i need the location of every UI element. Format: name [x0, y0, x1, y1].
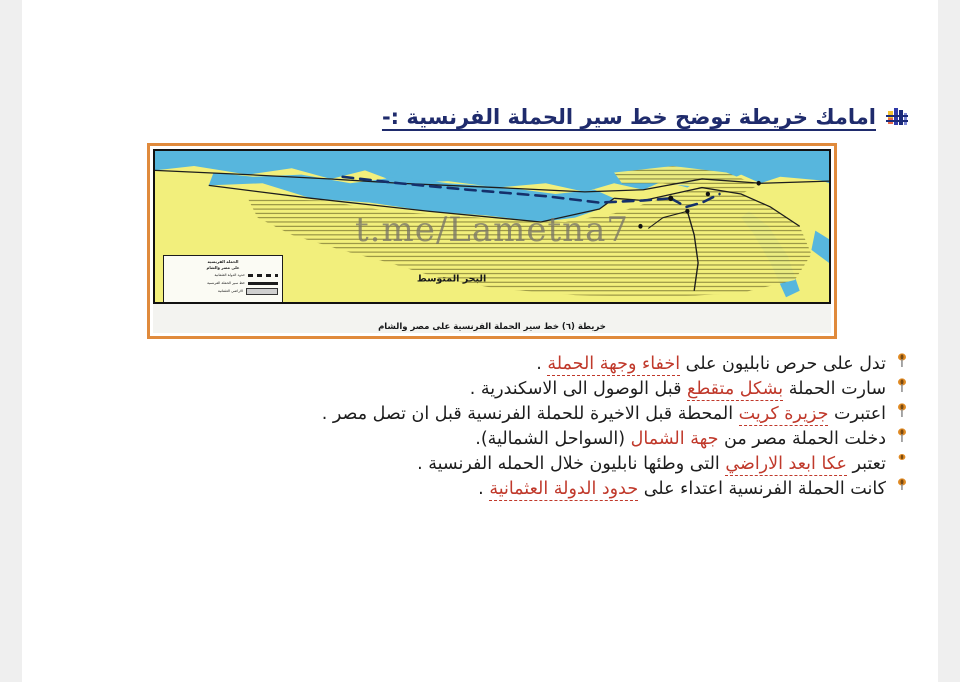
orange-pin-marker-icon	[896, 428, 908, 442]
point-segment: اعتبرت	[828, 404, 886, 424]
list-item-text: كانت الحملة الفرنسية اعتداء على حدود الد…	[478, 477, 886, 501]
legend-subtitle: على مصر والشام	[168, 265, 278, 271]
list-item-text: سارت الحملة بشكل متقطع قبل الوصول الى ال…	[470, 377, 886, 401]
legend-solid-line-icon	[248, 282, 278, 285]
legend-row: خط سير الحملة الفرنسية	[168, 281, 278, 287]
point-highlight: عكا ابعد الاراضي	[725, 454, 847, 476]
page-title: امامك خريطة توضح خط سير الحملة الفرنسية …	[382, 105, 876, 129]
list-item-text: تعتبر عكا ابعد الاراضي التى وطئها نابليو…	[417, 452, 886, 476]
orange-pin-marker-icon	[896, 353, 908, 367]
point-segment: .	[536, 354, 547, 374]
list-item: تعتبر عكا ابعد الاراضي التى وطئها نابليو…	[62, 452, 908, 477]
orange-pin-marker-icon	[896, 378, 908, 392]
point-segment: (السواحل الشمالية).	[475, 429, 630, 449]
point-segment: قبل الوصول الى الاسكندرية .	[470, 379, 687, 399]
point-highlight: بشكل متقطع	[687, 379, 783, 401]
legend-row-label: خط سير الحملة الفرنسية	[207, 281, 245, 287]
point-segment: تدل على حرص نابليون على	[680, 354, 886, 374]
orange-pin-marker-icon	[896, 403, 908, 417]
orange-pin-marker-icon	[896, 478, 908, 492]
key-points-list: تدل على حرص نابليون على اخفاء وجهة الحمل…	[62, 352, 908, 502]
map-figure-frame: t.me/Lametna7 البحر المتوسط الحملة الفرن…	[147, 143, 837, 339]
list-item-text: اعتبرت جزيرة كريت المحطة قبل الاخيرة للح…	[322, 402, 886, 426]
legend-area-swatch-icon	[246, 288, 278, 295]
list-item-text: دخلت الحملة مصر من جهة الشمال (السواحل ا…	[475, 427, 886, 451]
legend-row-label: حدود الدولة العثمانية	[214, 273, 245, 279]
list-item-text: تدل على حرص نابليون على اخفاء وجهة الحمل…	[536, 352, 886, 376]
map-legend: الحملة الفرنسية على مصر والشام حدود الدو…	[163, 255, 283, 304]
orange-pin-marker-icon	[896, 453, 908, 467]
list-item: اعتبرت جزيرة كريت المحطة قبل الاخيرة للح…	[62, 402, 908, 427]
point-highlight: اخفاء وجهة الحملة	[547, 354, 680, 376]
point-segment: سارت الحملة	[783, 379, 886, 399]
legend-row-label: الاراضي العثمانية	[218, 289, 243, 295]
point-segment: التى وطئها نابليون خلال الحمله الفرنسية …	[417, 454, 725, 474]
point-highlight: حدود الدولة العثمانية	[489, 479, 638, 501]
list-item: سارت الحملة بشكل متقطع قبل الوصول الى ال…	[62, 377, 908, 402]
list-item: كانت الحملة الفرنسية اعتداء على حدود الد…	[62, 477, 908, 502]
point-segment: تعتبر	[847, 454, 886, 474]
legend-dashed-line-icon	[248, 274, 278, 277]
point-segment: كانت الحملة الفرنسية اعتداء على	[638, 479, 886, 499]
point-segment: المحطة قبل الاخيرة للحملة الفرنسية قبل ا…	[322, 404, 739, 424]
chart-bullet-icon	[884, 104, 910, 130]
legend-row: الاراضي العثمانية	[168, 288, 278, 295]
point-highlight: جهة الشمال	[631, 429, 719, 449]
map-figure-inner: t.me/Lametna7 البحر المتوسط الحملة الفرن…	[153, 149, 831, 333]
list-item: تدل على حرص نابليون على اخفاء وجهة الحمل…	[62, 352, 908, 377]
mediterranean-sea-label: البحر المتوسط	[417, 273, 486, 284]
map-image: t.me/Lametna7 البحر المتوسط الحملة الفرن…	[153, 149, 831, 304]
slide-canvas: امامك خريطة توضح خط سير الحملة الفرنسية …	[22, 0, 938, 682]
list-item: دخلت الحملة مصر من جهة الشمال (السواحل ا…	[62, 427, 908, 452]
legend-row: حدود الدولة العثمانية	[168, 273, 278, 279]
map-caption: خريطة (٦) خط سير الحملة الفرنسية على مصر…	[153, 322, 831, 332]
point-highlight: جزيرة كريت	[739, 404, 829, 426]
slide-heading: امامك خريطة توضح خط سير الحملة الفرنسية …	[62, 104, 910, 130]
point-segment: دخلت الحملة مصر من	[718, 429, 886, 449]
point-segment: .	[478, 479, 489, 499]
